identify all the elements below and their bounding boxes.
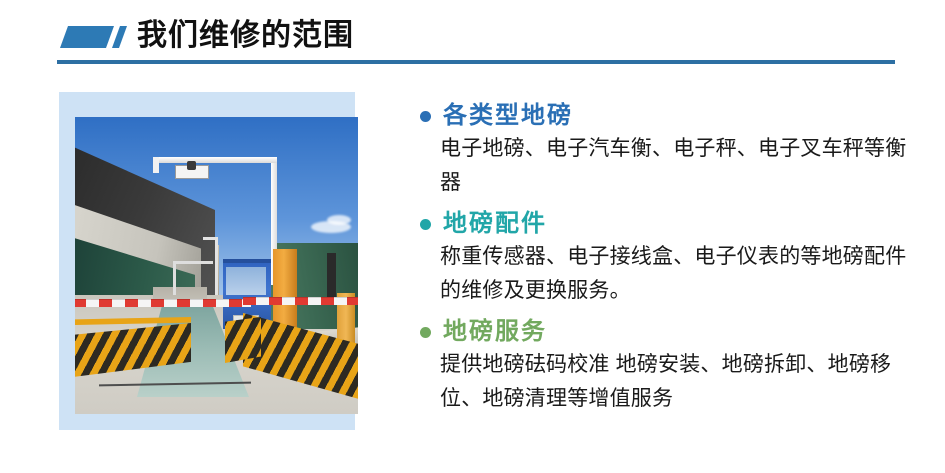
accent-slash-shape xyxy=(112,26,127,48)
list-item-heading: 各类型地磅 xyxy=(416,100,916,132)
list-item-body: 提供地磅砝码校准 地磅安装、地磅拆卸、地磅移位、地磅清理等增值服务 xyxy=(416,348,916,416)
list-item-body: 电子地磅、电子汽车衡、电子秤、电子叉车秤等衡器 xyxy=(416,132,916,200)
bullet-dot-icon xyxy=(420,327,431,338)
barrier-boom-right xyxy=(243,297,358,305)
striped-guard-middle xyxy=(225,317,261,363)
weighbridge-photo xyxy=(75,117,358,414)
list-item-heading: 地磅配件 xyxy=(416,208,916,240)
camera-gantry-tip xyxy=(153,157,159,173)
barrier-boom-left xyxy=(75,299,251,307)
lamp-pole xyxy=(215,237,218,295)
dark-post xyxy=(327,253,336,297)
list-item: 地磅配件 称重传感器、电子接线盒、电子仪表的等地磅配件的维修及更换服务。 xyxy=(416,208,916,308)
parallelogram-accent-icon xyxy=(64,26,126,48)
accent-bar-shape xyxy=(60,26,114,48)
service-scope-list: 各类型地磅 电子地磅、电子汽车衡、电子秤、电子叉车秤等衡器 地磅配件 称重传感器… xyxy=(416,100,916,424)
distant-gantry xyxy=(173,261,213,264)
camera-lens xyxy=(187,161,196,170)
list-item: 地磅服务 提供地磅砝码校准 地磅安装、地磅拆卸、地磅移位、地磅清理等增值服务 xyxy=(416,316,916,416)
camera-gantry-arm xyxy=(153,157,277,163)
list-item: 各类型地磅 电子地磅、电子汽车衡、电子秤、电子叉车秤等衡器 xyxy=(416,100,916,200)
header-divider xyxy=(57,60,895,64)
list-item-body: 称重传感器、电子接线盒、电子仪表的等地磅配件的维修及更换服务。 xyxy=(416,240,916,308)
distant-gantry-leg xyxy=(173,261,176,295)
bullet-dot-icon xyxy=(420,111,431,122)
booth-window xyxy=(226,267,266,295)
page-title: 我们维修的范围 xyxy=(137,14,354,58)
bullet-dot-icon xyxy=(420,219,431,230)
page-header: 我们维修的范围 xyxy=(57,14,895,64)
cloud-shape xyxy=(327,215,351,225)
list-item-heading: 地磅服务 xyxy=(416,316,916,348)
